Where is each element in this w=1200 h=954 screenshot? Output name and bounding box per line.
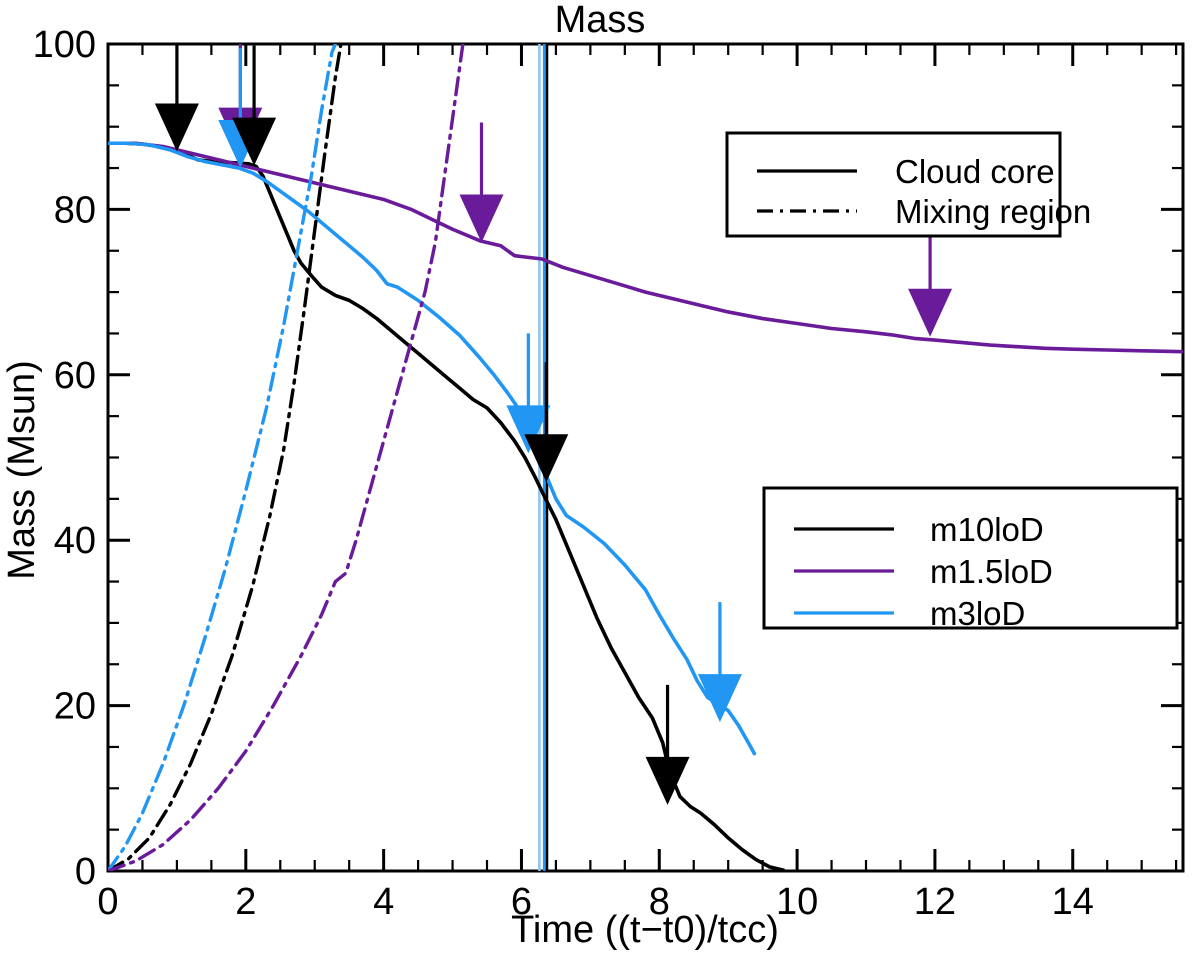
y-tick-label: 20: [54, 686, 96, 728]
model-legend-entry-label: m3loD: [930, 595, 1025, 632]
plot-canvas: Mass 02468101214 020406080100 Time ((t−t…: [0, 0, 1200, 954]
series-line-m3loD-mixing-region: [108, 44, 335, 871]
mass-evolution-figure: Mass 02468101214 020406080100 Time ((t−t…: [0, 0, 1200, 954]
x-axis-title: Time ((t−t0)/tcc): [511, 909, 779, 951]
line-style-legend-entry-label: Cloud core: [895, 153, 1055, 190]
annotation-arrow-m10loD: [646, 685, 690, 805]
series-line-m3loD-cloud-core: [108, 143, 754, 753]
annotation-arrow-m10loD: [155, 32, 199, 152]
plot-title: Mass: [555, 0, 646, 41]
y-tick-label: 80: [54, 189, 96, 231]
x-tick-label: 2: [235, 881, 256, 923]
x-tick-label: 14: [1052, 881, 1094, 923]
annotation-arrow-m1-5loD: [459, 122, 503, 242]
x-tick-label: 4: [373, 881, 394, 923]
annotation-arrow-m3loD: [698, 602, 742, 722]
model-legend-entry-label: m10loD: [930, 511, 1044, 548]
y-tick-label: 60: [54, 355, 96, 397]
y-tick-label: 0: [75, 851, 96, 893]
x-tick-label: 0: [97, 881, 118, 923]
y-tick-label: 40: [54, 520, 96, 562]
y-axis-title: Mass (Msun): [1, 360, 43, 580]
line-style-legend: Cloud coreMixing region: [727, 133, 1091, 236]
y-tick-label: 100: [33, 24, 96, 66]
x-tick-label: 12: [914, 881, 956, 923]
series-line-m1-5loD-mixing-region: [108, 44, 463, 871]
model-legend: m10loDm1.5loDm3loD: [764, 488, 1177, 632]
x-tick-label: 10: [776, 881, 818, 923]
model-legend-entry-label: m1.5loD: [930, 553, 1053, 590]
series-line-m10loD-mixing-region: [108, 44, 341, 871]
line-style-legend-entry-label: Mixing region: [895, 193, 1091, 230]
